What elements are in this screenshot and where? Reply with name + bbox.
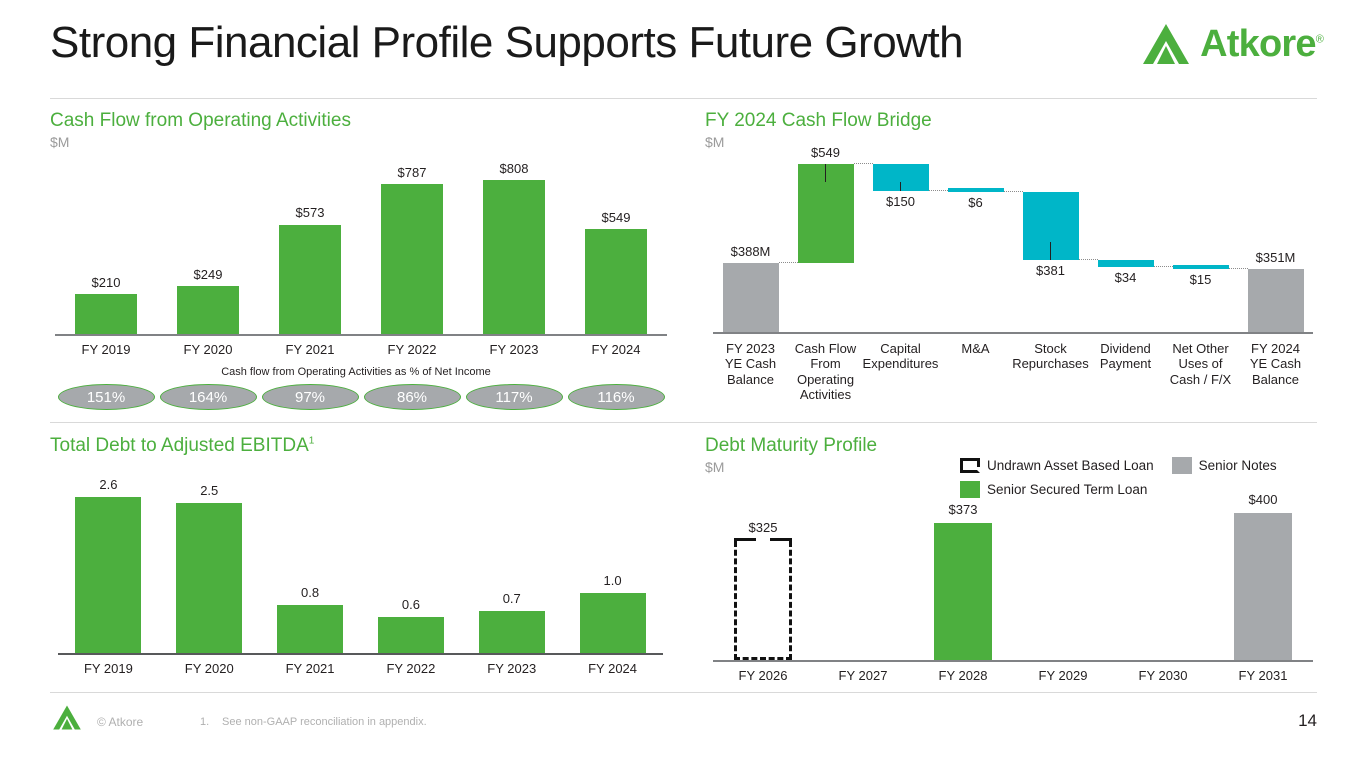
bar-cash-flow-fy-2019 [75, 294, 137, 334]
axis-label-fy-2022: FY 2022 [361, 661, 461, 676]
logo-trademark: ® [1316, 33, 1323, 45]
legend-swatch-gray-icon [1172, 457, 1192, 474]
axis-label-fy-2027: FY 2027 [813, 668, 913, 683]
logo-wordmark-text: Atkore [1200, 23, 1316, 65]
panel-title-maturity: Debt Maturity Profile [705, 435, 1325, 457]
waterfall-connector [854, 163, 873, 164]
waterfall-value-label: $15 [1156, 272, 1246, 287]
axis-label-line: Operating [776, 372, 876, 387]
axis-label-fy-2019: FY 2019 [58, 661, 158, 676]
axis-label-fy-2030: FY 2030 [1113, 668, 1213, 683]
waterfall-bar-7 [1248, 269, 1304, 332]
footer-divider [50, 692, 1317, 693]
bar-debt-ebitda-fy-2023 [479, 611, 545, 653]
bar-cash-flow-fy-2021 [279, 225, 341, 335]
panel-title-debt-ebitda-text: Total Debt to Adjusted EBITDA [50, 435, 309, 456]
panel-cash-flow-bridge: FY 2024 Cash Flow Bridge $M $388M$549$15… [705, 110, 1325, 420]
chart-debt-maturity: $325$373$400 [713, 495, 1313, 660]
bar-maturity-undrawn-fy-2026 [734, 541, 792, 660]
legend-row-1: Undrawn Asset Based Loan Senior Notes [960, 457, 1320, 474]
panel-debt-maturity: Debt Maturity Profile $M Undrawn Asset B… [705, 435, 1325, 685]
axis-label-fy-2026: FY 2026 [713, 668, 813, 683]
bar-debt-ebitda-fy-2022 [378, 617, 444, 653]
bar-cash-flow-fy-2020 [177, 286, 239, 334]
waterfall-tick [900, 182, 902, 191]
cash-flow-axis-line [55, 334, 667, 336]
waterfall-value-label: $6 [931, 195, 1021, 210]
chart-debt-to-ebitda: 2.62.50.80.60.71.0 [58, 473, 663, 653]
bar-value-label: $210 [66, 275, 146, 290]
axis-label-fy-2021: FY 2021 [260, 342, 360, 357]
maturity-axis-line [713, 660, 1313, 662]
mid-divider [50, 422, 1317, 423]
bar-value-label: 0.7 [472, 591, 552, 606]
axis-label-fy-2020: FY 2020 [159, 661, 259, 676]
bar-debt-ebitda-fy-2020 [176, 503, 242, 653]
bar-value-label: $325 [718, 520, 808, 535]
legend-swatch-dashed-icon [960, 458, 980, 473]
percent-badge-fy-2020: 164% [160, 384, 257, 410]
waterfall-value-label: $351M [1231, 250, 1321, 265]
axis-label-fy-2024: FY 2024 [563, 661, 663, 676]
bar-debt-ebitda-fy-2019 [75, 497, 141, 653]
bar-value-label: 0.8 [270, 585, 350, 600]
debt-axis-line [58, 653, 663, 655]
bar-value-label: $787 [372, 165, 452, 180]
footer-atkore-triangle-icon [52, 704, 82, 731]
legend-item-undrawn-asset-based-loan: Undrawn Asset Based Loan [960, 458, 1154, 473]
bar-debt-ebitda-fy-2021 [277, 605, 343, 653]
axis-label-line: FY 2024 [1226, 341, 1326, 356]
axis-label-fy-2022: FY 2022 [362, 342, 462, 357]
waterfall-connector [779, 262, 798, 263]
bar-value-label: $249 [168, 267, 248, 282]
panel-cash-flow-operating: Cash Flow from Operating Activities $M $… [50, 110, 690, 410]
page-number: 14 [1298, 711, 1317, 731]
waterfall-value-label: $388M [706, 244, 796, 259]
footer-footnote-text: See non-GAAP reconciliation in appendix. [222, 716, 427, 728]
legend-item-senior-notes: Senior Notes [1172, 457, 1277, 474]
percent-badge-fy-2024: 116% [568, 384, 665, 410]
axis-label-fy-2028: FY 2028 [913, 668, 1013, 683]
axis-label-line: Expenditures [851, 356, 951, 371]
waterfall-connector [1229, 268, 1248, 269]
bar-value-label: 0.6 [371, 597, 451, 612]
bar-maturity-fy-2031 [1234, 513, 1292, 660]
atkore-logo: Atkore® [1141, 22, 1323, 66]
waterfall-bar-3 [948, 188, 1004, 192]
bar-value-label: $549 [576, 210, 656, 225]
percent-badge-fy-2019: 151% [58, 384, 155, 410]
bar-cash-flow-fy-2024 [585, 229, 647, 334]
axis-label-line: YE Cash [1226, 356, 1326, 371]
bar-value-label: 2.5 [169, 483, 249, 498]
slide: Strong Financial Profile Supports Future… [0, 0, 1365, 768]
percent-badge-fy-2022: 86% [364, 384, 461, 410]
waterfall-tick [825, 164, 827, 182]
chart-cash-flow-operating: $210$249$573$787$808$549 [55, 162, 667, 334]
percent-badge-fy-2023: 117% [466, 384, 563, 410]
bar-debt-ebitda-fy-2024 [580, 593, 646, 653]
page-title: Strong Financial Profile Supports Future… [50, 18, 963, 68]
panel-title-debt-ebitda: Total Debt to Adjusted EBITDA1 [50, 435, 690, 457]
bar-cash-flow-fy-2022 [381, 184, 443, 334]
bar-value-label: 1.0 [573, 573, 653, 588]
axis-label-fy-2031: FY 2031 [1213, 668, 1313, 683]
axis-label-fy-2021: FY 2021 [260, 661, 360, 676]
percent-badge-fy-2021: 97% [262, 384, 359, 410]
footer-copyright: © Atkore [97, 715, 143, 729]
axis-label-fy-2023: FY 2023 [462, 661, 562, 676]
waterfall-connector [929, 190, 948, 191]
bar-cap-right [770, 538, 792, 541]
axis-label-fy-2024: FY 2024 [566, 342, 666, 357]
waterfall-bar-0 [723, 263, 779, 332]
footnote-marker: 1 [309, 436, 315, 447]
bridge-axis-line [713, 332, 1313, 334]
bar-value-label: $808 [474, 161, 554, 176]
atkore-triangle-icon [1141, 22, 1191, 66]
footer-footnote-number: 1. [200, 716, 209, 728]
bar-cap-left [734, 538, 756, 541]
waterfall-connector [1004, 191, 1023, 192]
bar-cash-flow-fy-2023 [483, 180, 545, 334]
axis-label-fy-2029: FY 2029 [1013, 668, 1113, 683]
header-divider [50, 98, 1317, 99]
waterfall-connector [1079, 259, 1098, 260]
waterfall-connector [1154, 266, 1173, 267]
axis-label-fy-2020: FY 2020 [158, 342, 258, 357]
bar-value-label: $373 [918, 502, 1008, 517]
cash-flow-annotation: Cash flow from Operating Activities as %… [50, 366, 662, 378]
axis-label-fy-2023: FY 2023 [464, 342, 564, 357]
axis-label-line: Activities [776, 387, 876, 402]
axis-label-line: Balance [1226, 372, 1326, 387]
waterfall-value-label: $549 [781, 145, 871, 160]
legend-label-senior-notes: Senior Notes [1199, 458, 1277, 473]
bar-value-label: 2.6 [68, 477, 148, 492]
legend-label-undrawn: Undrawn Asset Based Loan [987, 458, 1154, 473]
waterfall-tick [1050, 242, 1052, 260]
bar-maturity-fy-2028 [934, 523, 992, 660]
panel-title-cash-flow: Cash Flow from Operating Activities [50, 110, 690, 132]
bar-value-label: $400 [1218, 492, 1308, 507]
bar-value-label: $573 [270, 205, 350, 220]
waterfall-bar-6 [1173, 265, 1229, 269]
logo-wordmark: Atkore® [1200, 25, 1323, 63]
chart-cash-flow-bridge: $388M$549$150$6$381$34$15$351M [713, 162, 1313, 332]
axis-label-bridge-7: FY 2024YE CashBalance [1226, 341, 1326, 387]
waterfall-bar-5 [1098, 260, 1154, 266]
panel-subtitle-cash-flow: $M [50, 134, 690, 150]
panel-title-bridge: FY 2024 Cash Flow Bridge [705, 110, 1325, 132]
panel-debt-to-ebitda: Total Debt to Adjusted EBITDA1 2.62.50.8… [50, 435, 690, 685]
axis-label-fy-2019: FY 2019 [56, 342, 156, 357]
